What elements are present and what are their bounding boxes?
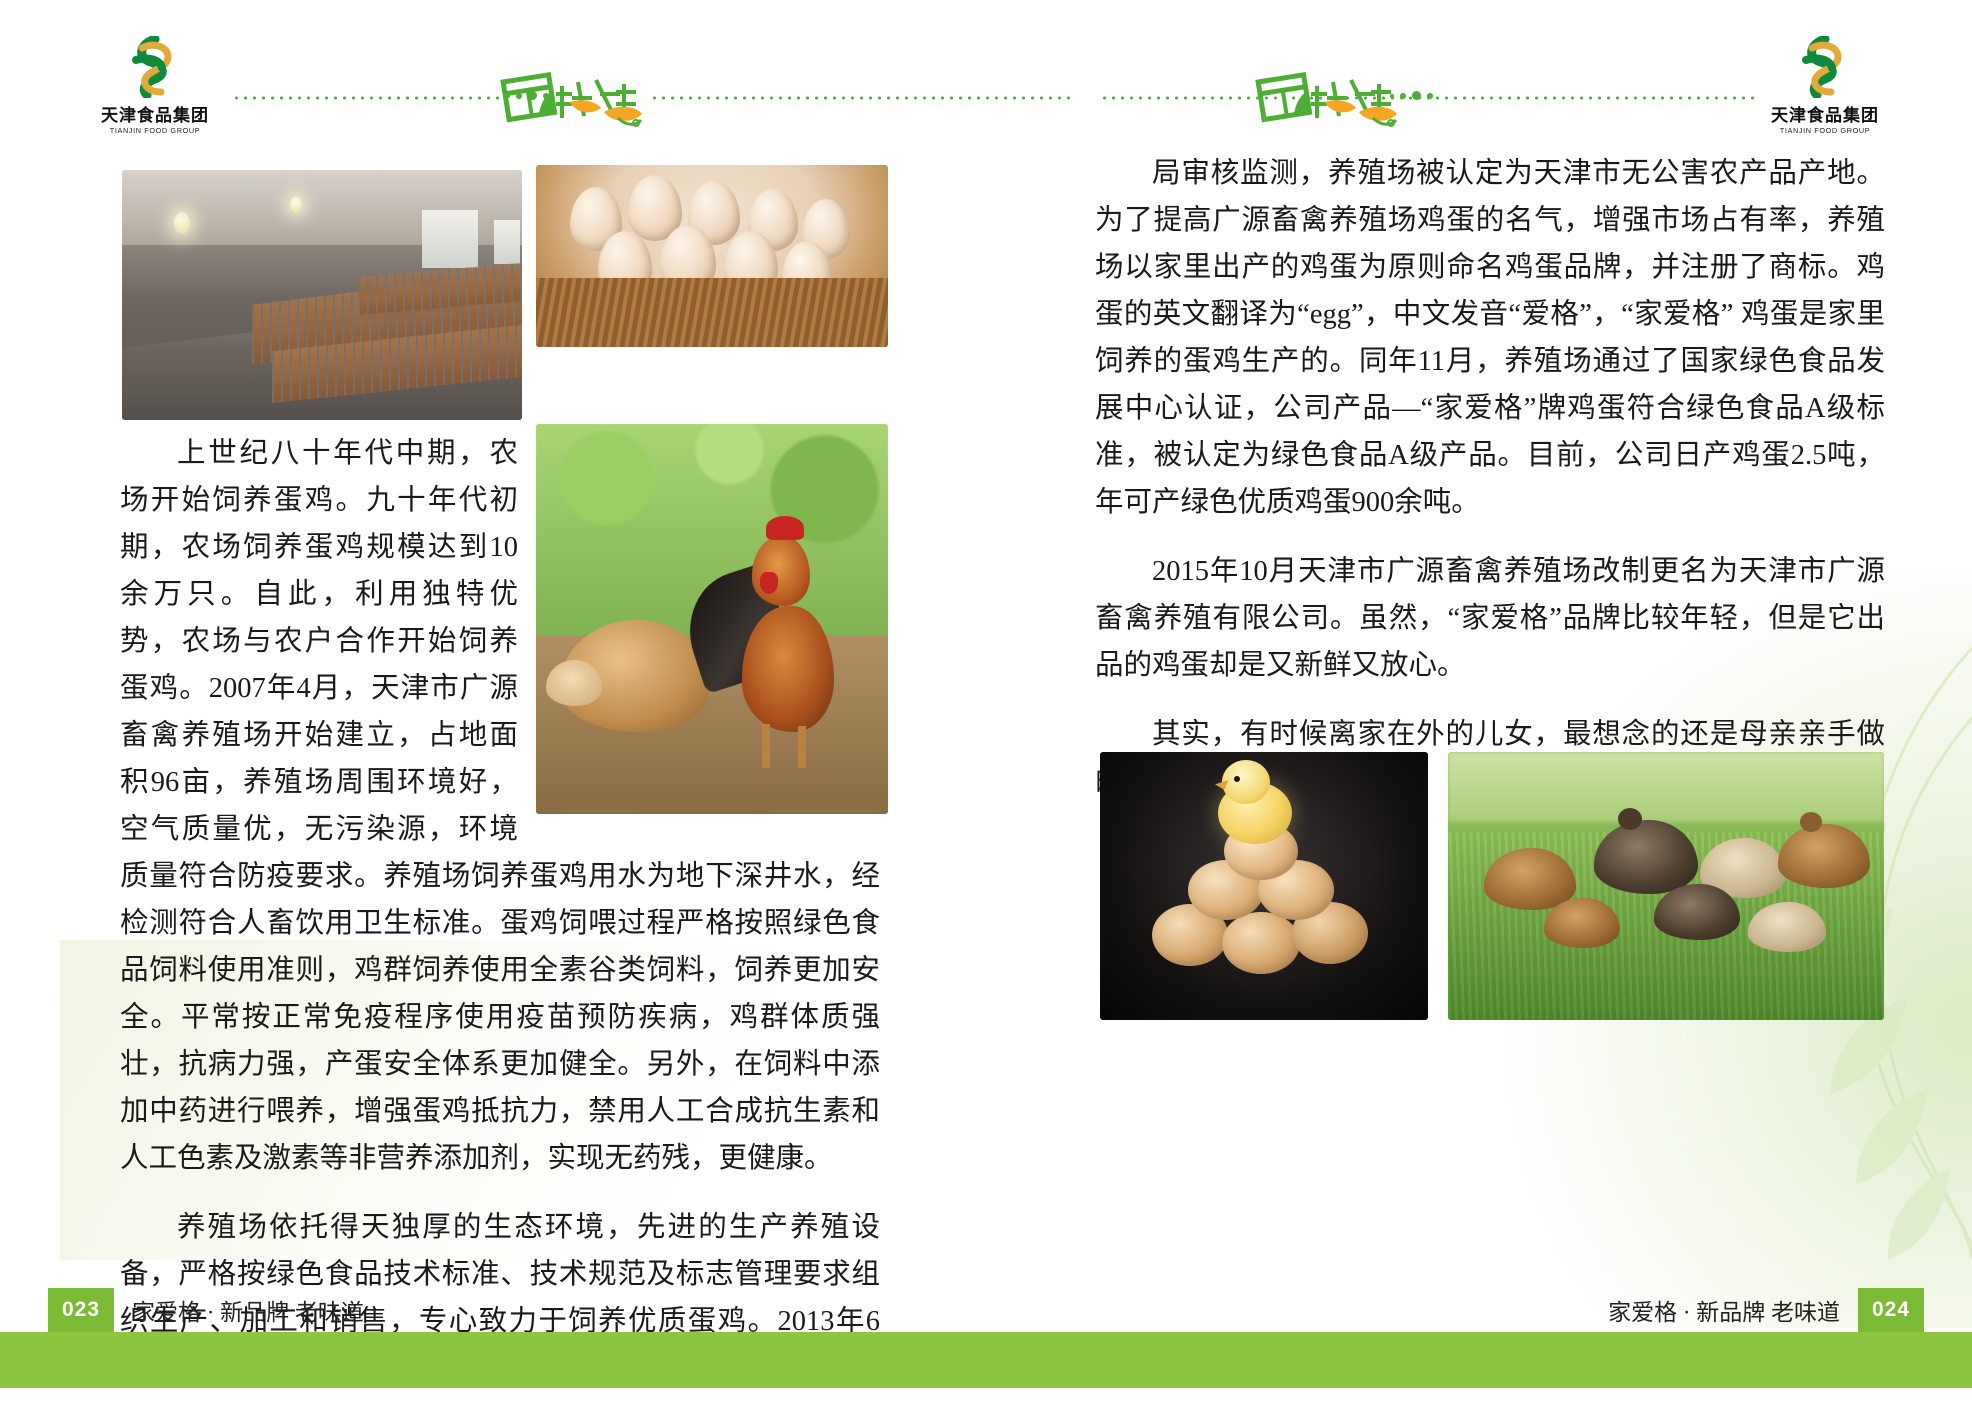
page-number-left: 023 (48, 1288, 114, 1332)
right-column-text: 局审核监测，养殖场被认定为天津市无公害农产品产地。为了提高广源畜禽养殖场鸡蛋的名… (1095, 150, 1885, 827)
brand-chinese-name: 天津食品集团 (90, 101, 220, 126)
right-paragraph-1: 局审核监测，养殖场被认定为天津市无公害农产品产地。为了提高广源畜禽养殖场鸡蛋的名… (1095, 150, 1885, 526)
magazine-spread: 天津食品集团 TIANJIN FOOD GROUP 天津食品集团 TIANJIN… (0, 0, 1972, 1388)
page-footer: 023 家爱格 · 新品牌 老味道 家爱格 · 新品牌 老味道 024 (0, 1276, 1972, 1388)
page-header: 天津食品集团 TIANJIN FOOD GROUP 天津食品集团 TIANJIN… (0, 28, 1972, 128)
text-wrap-spacer (518, 430, 880, 820)
brand-english-name: TIANJIN FOOD GROUP (87, 128, 222, 135)
brand-block-left: 天津食品集团 TIANJIN FOOD GROUP (90, 36, 220, 135)
hen-house-photo (122, 170, 522, 420)
lao-pai-gu-shi-emblem-icon (500, 68, 648, 130)
brand-block-right: 天津食品集团 TIANJIN FOOD GROUP (1760, 36, 1890, 135)
egg-basket-photo (536, 165, 888, 347)
folio-left: 023 家爱格 · 新品牌 老味道 (48, 1288, 382, 1332)
brand-english-name: TIANJIN FOOD GROUP (1757, 128, 1892, 135)
tianjin-food-group-logo-icon (1760, 36, 1890, 98)
footer-caption-left: 家爱格 · 新品牌 老味道 (114, 1293, 382, 1327)
chick-on-eggs-photo (1100, 752, 1428, 1020)
footer-green-bar (0, 1332, 1972, 1388)
header-dotted-rule (232, 96, 504, 100)
page-number-right: 024 (1858, 1288, 1924, 1332)
header-dot-cluster (1390, 91, 1433, 100)
header-dotted-rule (650, 96, 1070, 100)
brand-chinese-name: 天津食品集团 (1760, 101, 1890, 126)
right-paragraph-2: 2015年10月天津市广源畜禽养殖场改制更名为天津市广源畜禽养殖有限公司。虽然，… (1095, 548, 1885, 689)
tianjin-food-group-logo-icon (90, 36, 220, 98)
left-column-text: 上世纪八十年代中期，农场开始饲养蛋鸡。九十年代初期，农场饲养蛋鸡规模达到10余万… (120, 430, 880, 1414)
footer-caption-right: 家爱格 · 新品牌 老味道 (1590, 1293, 1858, 1327)
free-range-flock-photo (1448, 752, 1884, 1020)
folio-right: 家爱格 · 新品牌 老味道 024 (1590, 1288, 1924, 1332)
